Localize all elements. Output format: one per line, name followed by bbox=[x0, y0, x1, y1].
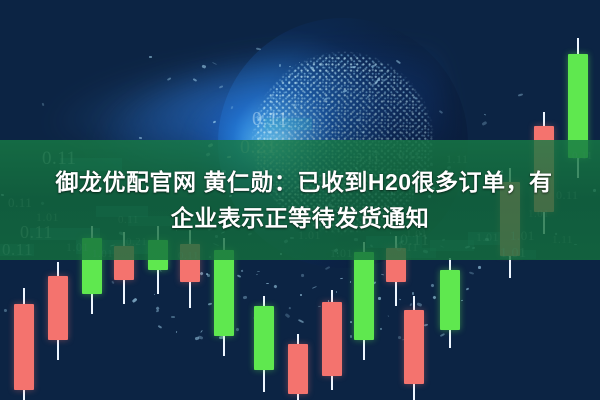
headline-line-2: 企业表示正等待发货通知 bbox=[171, 203, 430, 233]
headline-block: 御龙优配官网 黄仁勋：已收到H20很多订单，有 企业表示正等待发货通知 bbox=[0, 140, 600, 260]
candlestick-body bbox=[404, 310, 424, 384]
candlestick-body bbox=[288, 344, 308, 394]
candlestick-body bbox=[354, 252, 374, 340]
candlestick-body bbox=[254, 306, 274, 370]
candlestick-body bbox=[14, 304, 34, 390]
candlestick-body bbox=[214, 250, 234, 336]
candlestick-body bbox=[440, 270, 460, 330]
candlestick-body bbox=[48, 276, 68, 340]
headline-line-1: 御龙优配官网 黄仁勋：已收到H20很多订单，有 bbox=[47, 167, 552, 197]
candlestick-body bbox=[322, 302, 342, 376]
news-banner-image: 0.110.111.010.110.111.011.010.110.210.11… bbox=[0, 0, 600, 400]
